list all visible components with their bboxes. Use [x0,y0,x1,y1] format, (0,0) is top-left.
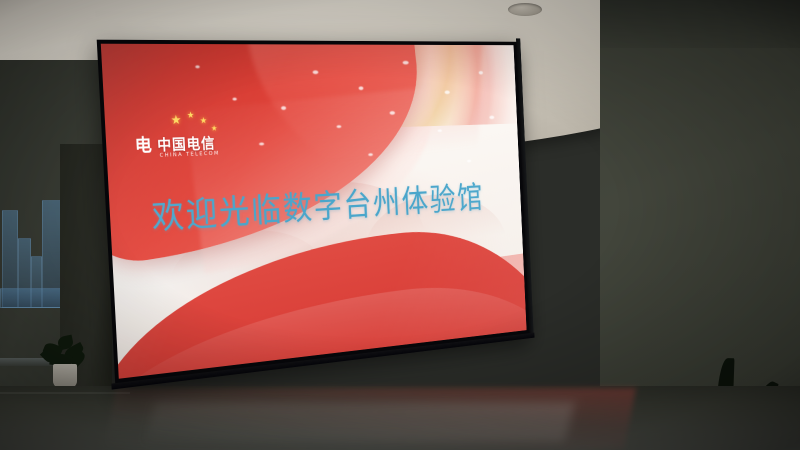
logo-star-icon: ★ [211,125,218,133]
wall-right-upper [600,0,800,48]
china-telecom-logo: ★ ★ ★ ★ 电 中国电信 CHINA TELECOM [129,111,251,173]
led-screen-surface[interactable]: ★ ★ ★ ★ 电 中国电信 CHINA TELECOM 欢迎光临数字台州体验馆 [101,44,527,379]
logo-star-icon: ★ [187,112,195,121]
logo-star-icon: ★ [170,114,181,127]
sparkle-dot [195,65,200,68]
floor-baseboard-line [0,392,130,394]
logo-star-icon: ★ [200,117,208,126]
screenshot-scene: ★ ★ ★ ★ 电 中国电信 CHINA TELECOM 欢迎光临数字台州体验馆 [0,0,800,450]
sparkle-dot [359,86,364,90]
sparkle-dot [445,91,450,95]
sparkle-dot [281,106,286,110]
floor-sheen [145,402,575,442]
sparkle-dot [403,61,409,65]
ceiling-speaker-icon [508,3,542,16]
led-video-wall[interactable]: ★ ★ ★ ★ 电 中国电信 CHINA TELECOM 欢迎光临数字台州体验馆 [97,40,531,384]
logo-english-name: CHINA TELECOM [160,151,220,159]
potted-plant-left-pot [53,364,77,388]
sparkle-dot [232,98,237,101]
sparkle-dot [313,70,319,74]
china-telecom-mark-icon: 电 [134,136,154,156]
sparkle-dot [479,71,483,74]
